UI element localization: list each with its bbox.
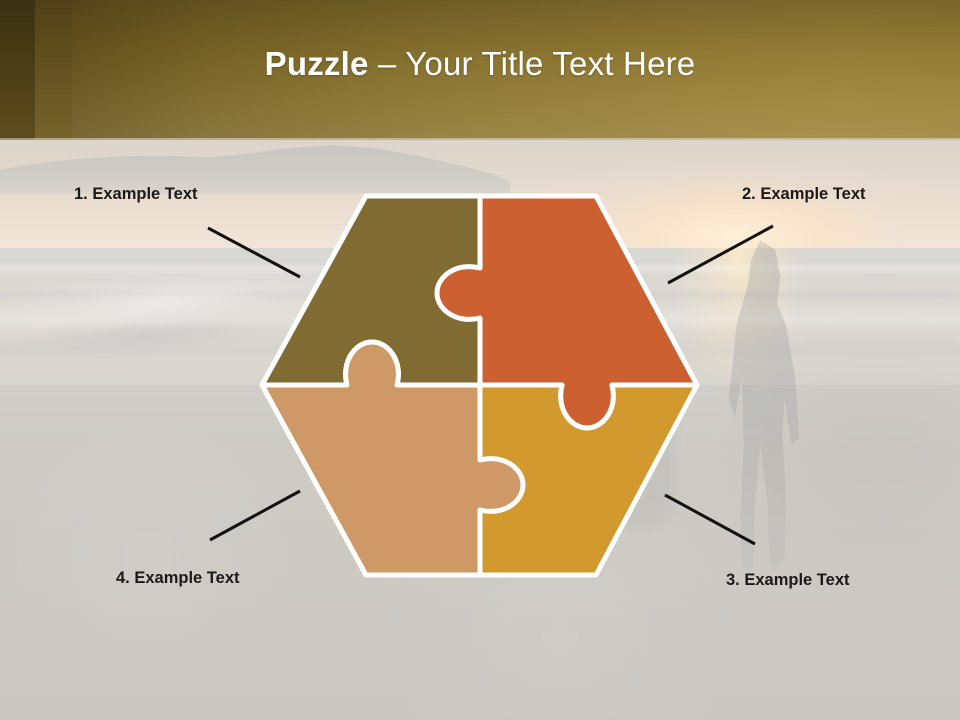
callout-label-1[interactable]: 1. Example Text [74, 184, 198, 204]
callout-label-2[interactable]: 2. Example Text [742, 184, 866, 204]
leader-line-1 [208, 228, 300, 277]
leader-line-2 [668, 226, 773, 283]
callout-label-3[interactable]: 3. Example Text [726, 570, 850, 590]
leader-line-4 [210, 491, 300, 540]
leader-lines [0, 0, 960, 720]
slide-canvas: Puzzle – Your Title Text Here 1. Example… [0, 0, 960, 720]
leader-line-3 [665, 495, 755, 544]
callout-label-4[interactable]: 4. Example Text [116, 568, 240, 588]
